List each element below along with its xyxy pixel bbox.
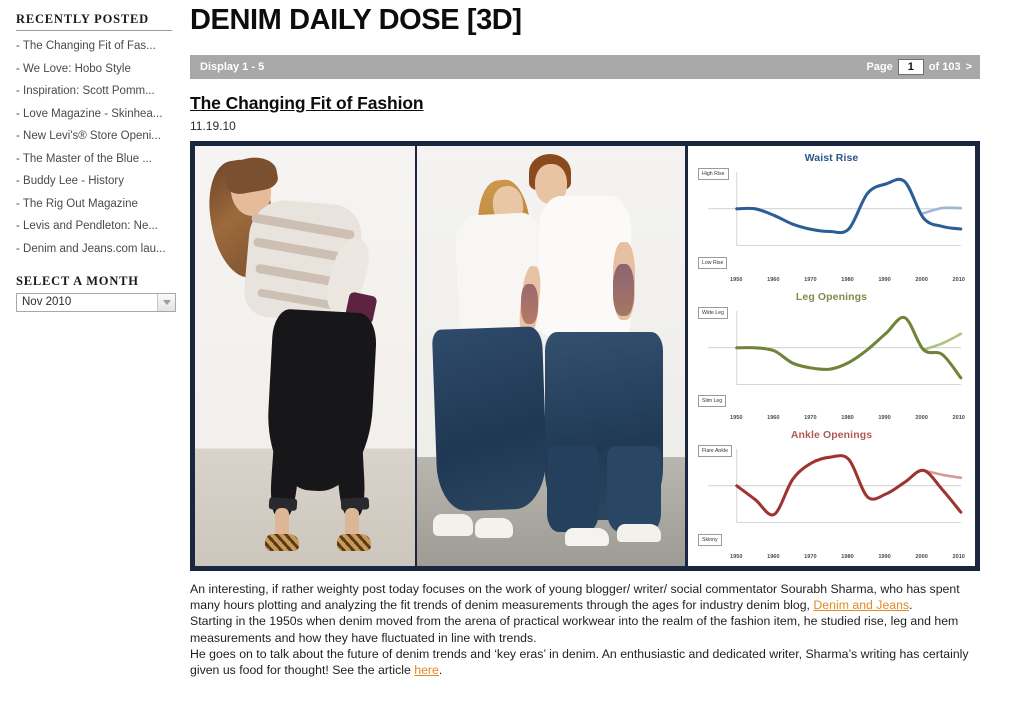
body-paragraph: An interesting, if rather weighty post t…	[190, 581, 980, 613]
chart-2: Leg OpeningsWide LegSlim Leg195019601970…	[694, 287, 969, 426]
recent-post-link[interactable]: - Denim and Jeans.com lau...	[16, 243, 173, 256]
recent-post-link[interactable]: - Love Magazine - Skinhea...	[16, 108, 173, 121]
y-axis-top-label: Flare Ankle	[698, 445, 732, 457]
next-page-arrow-icon[interactable]: >	[966, 61, 972, 73]
sidebar: RECENTLY POSTED - The Changing Fit of Fa…	[0, 0, 185, 712]
x-axis-tick: 1950	[730, 554, 742, 560]
x-axis-tick: 1970	[804, 554, 816, 560]
list-item: - The Rig Out Magazine	[16, 198, 173, 211]
sidebar-divider	[16, 30, 172, 31]
chart-1: Waist RiseHigh RiseLow Rise1950196019701…	[694, 148, 969, 287]
select-a-month-heading: SELECT A MONTH	[16, 274, 173, 289]
list-item: - Buddy Lee - History	[16, 175, 173, 188]
x-axis-tick: 1970	[804, 277, 816, 283]
body-text: He goes on to talk about the future of d…	[190, 647, 969, 677]
body-inline-link[interactable]: here	[414, 663, 439, 677]
body-text: Starting in the 1950s when denim moved f…	[190, 614, 958, 644]
recent-post-link[interactable]: - The Changing Fit of Fas...	[16, 40, 173, 53]
list-item: - Denim and Jeans.com lau...	[16, 243, 173, 256]
chart-title: Leg Openings	[694, 291, 969, 303]
x-axis-tick: 1970	[804, 415, 816, 421]
photo-wide-leg-jeans	[415, 146, 685, 566]
body-paragraph: He goes on to talk about the future of d…	[190, 646, 980, 678]
x-axis-tick: 1950	[730, 415, 742, 421]
post-body: An interesting, if rather weighty post t…	[190, 581, 980, 678]
x-axis-tick: 2010	[952, 415, 964, 421]
x-axis-tick: 1990	[878, 554, 890, 560]
body-text: .	[439, 663, 442, 677]
list-item: - We Love: Hobo Style	[16, 63, 173, 76]
chart-plot	[694, 441, 969, 541]
chevron-down-icon[interactable]	[157, 294, 175, 311]
x-axis-tick: 1960	[767, 554, 779, 560]
x-axis-tick: 1960	[767, 415, 779, 421]
x-axis-tick: 1990	[878, 277, 890, 283]
recent-post-link[interactable]: - Levis and Pendleton: Ne...	[16, 220, 173, 233]
x-axis-ticks: 1950196019701980199020002010	[730, 277, 965, 283]
main-content: DENIM DAILY DOSE [3D] Display 1 - 5 Page…	[190, 0, 1018, 712]
month-select-value: Nov 2010	[17, 296, 157, 308]
photo-skinny-jeans	[195, 146, 415, 566]
display-range-label: Display 1 - 5	[200, 61, 264, 73]
chart-title: Waist Rise	[694, 152, 969, 164]
x-axis-tick: 2010	[952, 277, 964, 283]
page-total-label: of 103	[929, 61, 961, 73]
x-axis-tick: 1980	[841, 554, 853, 560]
list-item: - The Master of the Blue ...	[16, 153, 173, 166]
page-number-input[interactable]: 1	[898, 59, 924, 75]
x-axis-tick: 1980	[841, 277, 853, 283]
recent-post-link[interactable]: - We Love: Hobo Style	[16, 63, 173, 76]
x-axis-tick: 2000	[915, 415, 927, 421]
chart-3: Ankle OpeningsFlare AnkleSkinny195019601…	[694, 425, 969, 564]
x-axis-tick: 2000	[915, 277, 927, 283]
y-axis-bottom-label: Skinny	[698, 534, 722, 546]
recent-post-link[interactable]: - Buddy Lee - History	[16, 175, 173, 188]
list-item: - Inspiration: Scott Pomm...	[16, 85, 173, 98]
recently-posted-list: - The Changing Fit of Fas...- We Love: H…	[16, 40, 173, 256]
post-date: 11.19.10	[190, 119, 978, 133]
body-text: .	[909, 598, 912, 612]
y-axis-top-label: High Rise	[698, 168, 729, 180]
chart-plot	[694, 164, 969, 264]
x-axis-tick: 1960	[767, 277, 779, 283]
y-axis-top-label: Wide Leg	[698, 307, 728, 319]
list-item: - The Changing Fit of Fas...	[16, 40, 173, 53]
x-axis-ticks: 1950196019701980199020002010	[730, 554, 965, 560]
page-root: RECENTLY POSTED - The Changing Fit of Fa…	[0, 0, 1018, 712]
site-title: DENIM DAILY DOSE [3D]	[190, 3, 978, 37]
pagination-bar: Display 1 - 5 Page 1 of 103 >	[190, 55, 980, 79]
y-axis-bottom-label: Low Rise	[698, 257, 727, 269]
recent-post-link[interactable]: - Inspiration: Scott Pomm...	[16, 85, 173, 98]
recently-posted-heading: RECENTLY POSTED	[16, 12, 173, 27]
x-axis-tick: 2000	[915, 554, 927, 560]
list-item: - New Levi's® Store Openi...	[16, 130, 173, 143]
post-image-strip: Waist RiseHigh RiseLow Rise1950196019701…	[190, 141, 980, 571]
recent-post-link[interactable]: - The Master of the Blue ...	[16, 153, 173, 166]
x-axis-tick: 1990	[878, 415, 890, 421]
list-item: - Love Magazine - Skinhea...	[16, 108, 173, 121]
x-axis-ticks: 1950196019701980199020002010	[730, 415, 965, 421]
chart-plot	[694, 303, 969, 403]
list-item: - Levis and Pendleton: Ne...	[16, 220, 173, 233]
recent-post-link[interactable]: - New Levi's® Store Openi...	[16, 130, 173, 143]
recent-post-link[interactable]: - The Rig Out Magazine	[16, 198, 173, 211]
denim-fit-trend-charts: Waist RiseHigh RiseLow Rise1950196019701…	[685, 146, 975, 566]
body-inline-link[interactable]: Denim and Jeans	[813, 598, 909, 612]
body-paragraph: Starting in the 1950s when denim moved f…	[190, 613, 980, 645]
month-select[interactable]: Nov 2010	[16, 293, 176, 312]
pagination-controls: Page 1 of 103 >	[866, 59, 972, 75]
x-axis-tick: 2010	[952, 554, 964, 560]
page-label: Page	[866, 61, 892, 73]
chart-title: Ankle Openings	[694, 429, 969, 441]
post-title-link[interactable]: The Changing Fit of Fashion	[190, 93, 424, 114]
x-axis-tick: 1950	[730, 277, 742, 283]
x-axis-tick: 1980	[841, 415, 853, 421]
y-axis-bottom-label: Slim Leg	[698, 395, 726, 407]
